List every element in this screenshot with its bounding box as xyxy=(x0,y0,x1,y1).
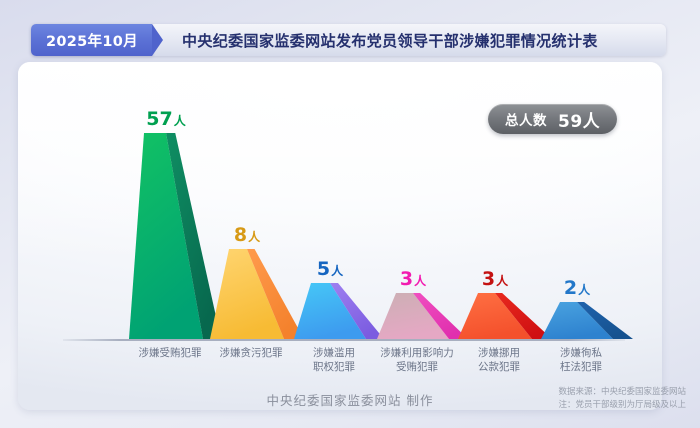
bar-value-label-6: 2人 xyxy=(564,279,590,298)
bar-3[interactable]: 5人 xyxy=(294,283,384,339)
bar-value-unit: 人 xyxy=(248,230,260,244)
total-count-value: 59人 xyxy=(558,107,600,132)
total-count-badge: 总人数 59人 xyxy=(488,104,617,134)
bar-value-unit: 人 xyxy=(496,274,508,288)
bar-1[interactable]: 57人 xyxy=(129,133,221,339)
bar-value-label-5: 3人 xyxy=(482,270,508,289)
category-label-line: 涉嫌徇私 xyxy=(526,347,636,361)
bar-value-number: 5 xyxy=(317,258,330,280)
bar-value-label-4: 3人 xyxy=(400,270,426,289)
title-bar: 中央纪委国家监委网站发布党员领导干部涉嫌犯罪情况统计表 xyxy=(152,24,666,56)
bar-value-number: 3 xyxy=(400,268,413,290)
bar-value-number: 2 xyxy=(564,277,577,299)
page-title: 中央纪委国家监委网站发布党员领导干部涉嫌犯罪情况统计表 xyxy=(182,30,598,51)
bar-value-number: 57 xyxy=(146,108,172,130)
bar-value-unit: 人 xyxy=(414,274,426,288)
bar-4[interactable]: 3人 xyxy=(377,293,468,339)
bar-value-unit: 人 xyxy=(331,264,343,278)
bar-2[interactable]: 8人 xyxy=(210,249,304,339)
bar-value-unit: 人 xyxy=(578,283,590,297)
date-badge: 2025年10月 xyxy=(31,24,152,56)
header: 2025年10月 中央纪委国家监委网站发布党员领导干部涉嫌犯罪情况统计表 xyxy=(31,24,666,56)
total-count-label: 总人数 xyxy=(505,109,547,129)
date-badge-label: 2025年10月 xyxy=(46,30,138,51)
bar-value-number: 3 xyxy=(482,268,495,290)
bar-value-label-1: 57人 xyxy=(146,110,185,129)
bar-6[interactable]: 2人 xyxy=(541,302,633,339)
chart-baseline xyxy=(63,339,625,341)
category-label-6: 涉嫌徇私枉法犯罪 xyxy=(526,347,636,375)
bar-value-unit: 人 xyxy=(174,114,186,128)
bar-value-label-2: 8人 xyxy=(234,226,260,245)
bar-value-number: 8 xyxy=(234,224,247,246)
bar-5[interactable]: 3人 xyxy=(458,293,552,339)
category-label-line: 枉法犯罪 xyxy=(526,361,636,375)
bar-value-label-3: 5人 xyxy=(317,260,343,279)
